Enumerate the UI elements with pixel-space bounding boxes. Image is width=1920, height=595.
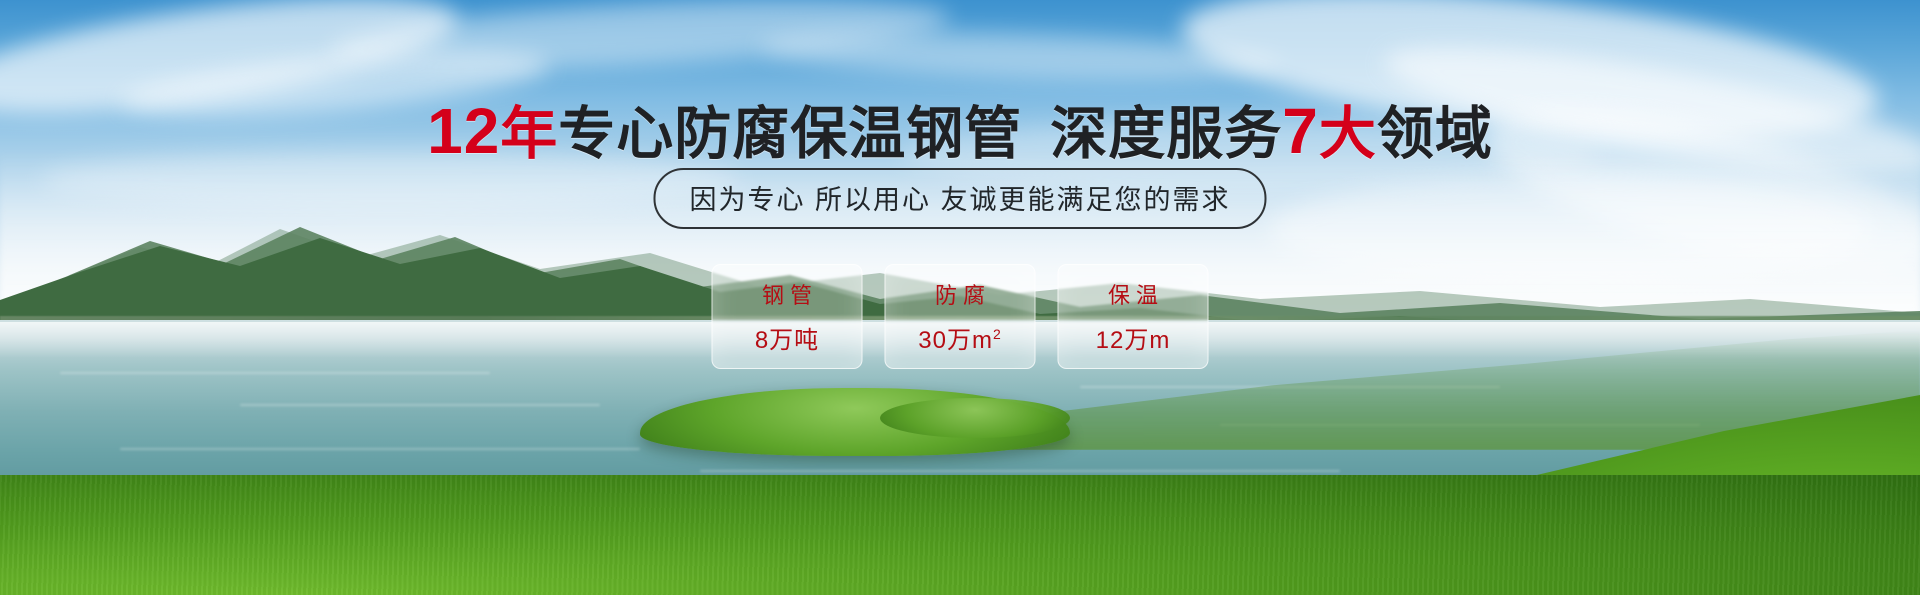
banner-headline: 12年专心防腐保温钢管深度服务7大领域 bbox=[0, 88, 1920, 170]
headline-fields-text: 领域 bbox=[1377, 102, 1493, 166]
banner-subtitle-pill: 因为专心 所以用心 友诚更能满足您的需求 bbox=[653, 168, 1266, 229]
water-ripple bbox=[240, 404, 600, 406]
stat-card-value-text: 8万吨 bbox=[755, 327, 819, 354]
stat-card-label: 防腐 bbox=[929, 278, 991, 310]
water-ripple bbox=[60, 372, 490, 374]
headline-years-unit: 年 bbox=[500, 102, 558, 166]
stat-card-value: 8万吨 bbox=[755, 320, 819, 355]
stat-card-value: 12万m bbox=[1096, 320, 1171, 355]
stat-card-value: 30万m2 bbox=[918, 320, 1001, 355]
water-ripple bbox=[700, 470, 1340, 472]
headline-fields-number: 7 bbox=[1282, 95, 1319, 167]
stat-card-label: 钢管 bbox=[756, 278, 818, 310]
stat-card-value-text: 12万m bbox=[1096, 327, 1171, 354]
stat-card-steel-pipe[interactable]: 钢管 8万吨 bbox=[712, 264, 863, 369]
stat-card-insulation[interactable]: 保温 12万m bbox=[1058, 264, 1209, 369]
stat-card-value-superscript: 2 bbox=[993, 326, 1002, 342]
hero-banner: 12年专心防腐保温钢管深度服务7大领域 因为专心 所以用心 友诚更能满足您的需求… bbox=[0, 0, 1920, 595]
stat-card-anticorrosion[interactable]: 防腐 30万m2 bbox=[885, 264, 1036, 369]
headline-main-text: 专心防腐保温钢管 bbox=[558, 102, 1022, 166]
grass-island-small bbox=[880, 398, 1070, 438]
stat-cards-group: 钢管 8万吨 防腐 30万m2 保温 12万m bbox=[712, 264, 1209, 369]
grass-foreground bbox=[0, 475, 1920, 595]
headline-service-text: 深度服务 bbox=[1050, 102, 1282, 166]
stat-card-value-text: 30万m bbox=[918, 327, 993, 354]
headline-fields-unit: 大 bbox=[1319, 102, 1377, 166]
water-ripple bbox=[120, 448, 640, 450]
stat-card-label: 保温 bbox=[1102, 278, 1164, 310]
headline-years-number: 12 bbox=[427, 95, 500, 167]
